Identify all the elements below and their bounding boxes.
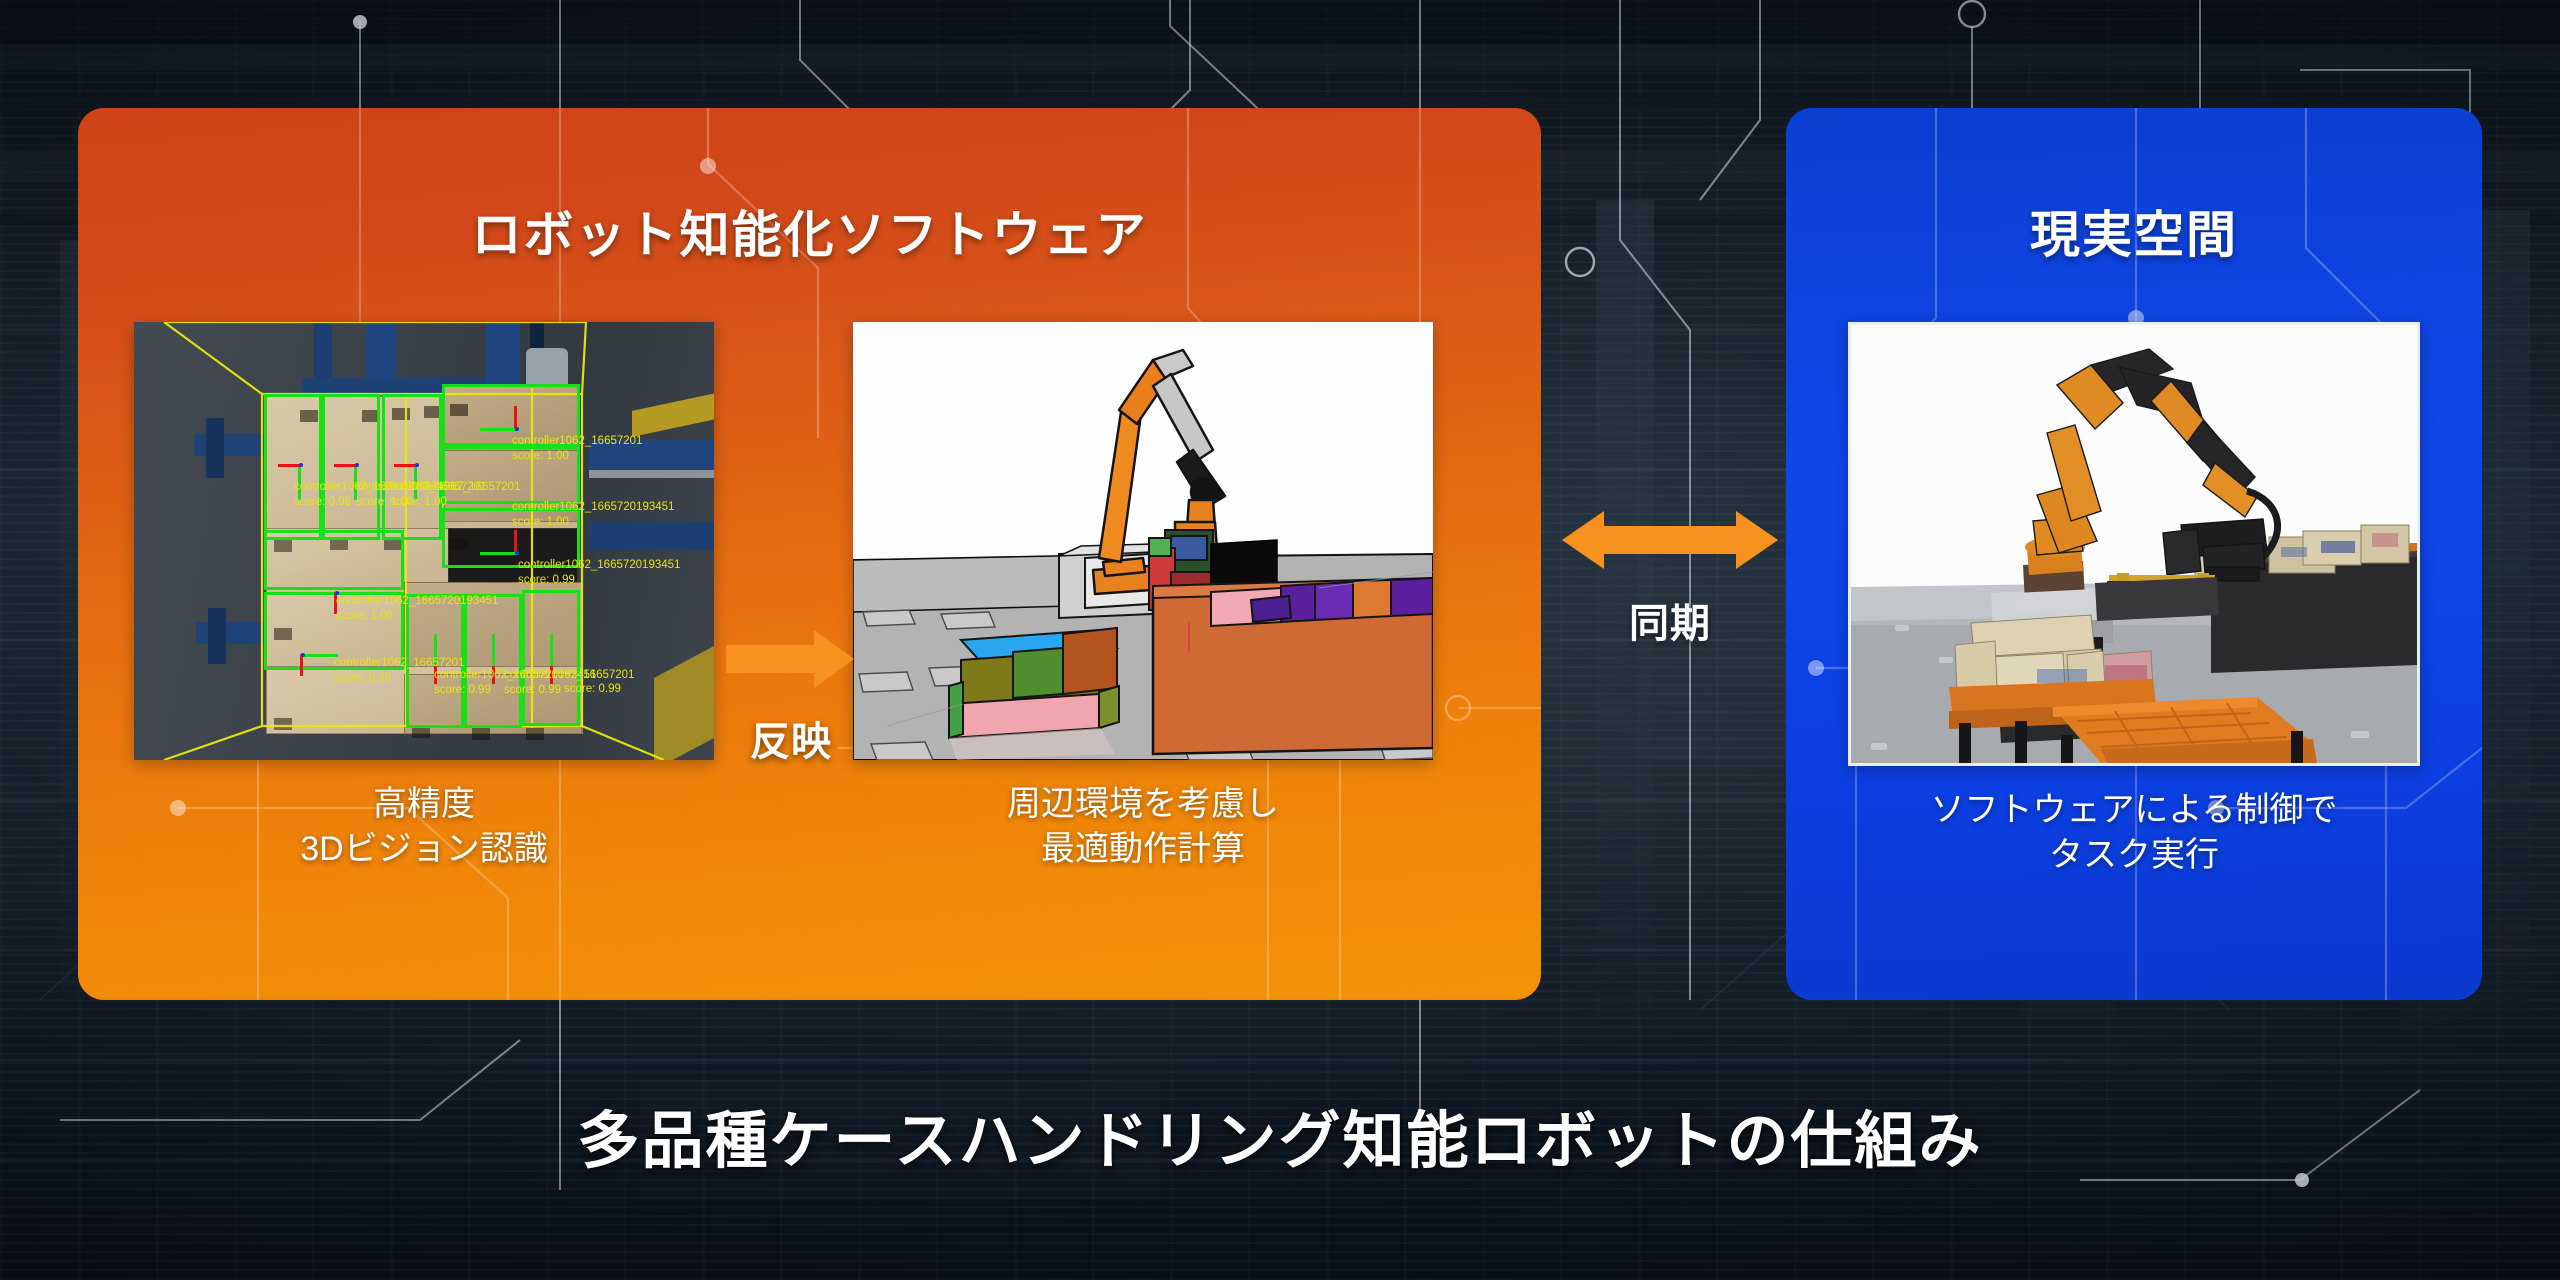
axis-origin-2: [355, 463, 359, 467]
axis-green-4: [480, 428, 518, 431]
detection-label-5-score: score: 1.00: [512, 515, 674, 530]
simulation-image: [853, 322, 1433, 760]
detection-label-7-score: score: 1.00: [336, 609, 498, 624]
detection-label-11-score: score: 0.99: [564, 682, 621, 697]
axis-origin-5: [515, 551, 519, 555]
axis-red-2: [334, 464, 356, 467]
arrow-reflect-label: 反映: [726, 709, 856, 767]
axis-red-1: [278, 464, 300, 467]
detection-label-6: controller1062_1665720193451 score: 0.99: [518, 558, 680, 588]
real-caption-line1: ソフトウェアによる制御で: [1848, 788, 2420, 833]
detection-label-5-name: controller1062_1665720193451: [512, 500, 674, 515]
arrow-sync-group: 同期: [1562, 508, 1778, 649]
simulation-caption-line2: 最適動作計算: [853, 827, 1433, 872]
bbox-1: [264, 394, 322, 540]
detection-label-6-name: controller1062_1665720193451: [518, 558, 680, 573]
detection-label-5: controller1062_1665720193451 score: 1.00: [512, 500, 674, 530]
axis-green-9: [492, 634, 495, 668]
detection-label-4-score: score: 1.00: [390, 495, 520, 510]
arrow-bidirectional-icon: [1562, 508, 1778, 572]
slide-bottom-title: 多品種ケースハンドリング知能ロボットの仕組み: [0, 1090, 2560, 1180]
figure-real-robot: ソフトウェアによる制御で タスク実行: [1848, 322, 2420, 878]
figure-simulation: 周辺環境を考慮し 最適動作計算: [853, 322, 1433, 872]
figure-3d-vision: controller1062_16657201 score: 1.00 cont…: [134, 322, 714, 872]
vision-caption-line1: 高精度: [134, 782, 714, 827]
axis-red-5: [514, 530, 517, 552]
axis-green-5: [480, 552, 518, 555]
figure-3d-vision-caption: 高精度 3Dビジョン認識: [134, 782, 714, 872]
vision-scene: controller1062_16657201 score: 1.00 cont…: [134, 322, 714, 760]
axis-origin-4: [515, 427, 519, 431]
simulation-caption-line1: 周辺環境を考慮し: [853, 782, 1433, 827]
figure-real-robot-caption: ソフトウェアによる制御で タスク実行: [1848, 788, 2420, 878]
real-robot-image: [1848, 322, 2420, 766]
real-robot-scene: [1851, 325, 2417, 763]
detection-label-4: controller1062_16657201 score: 1.00: [390, 480, 520, 510]
bbox-3: [382, 394, 442, 540]
panel-real-space: 現実空間: [1786, 108, 2482, 1000]
detection-label-10-name: controller1062_16657201: [504, 668, 634, 683]
simulation-3d-view: [853, 322, 1433, 760]
arrow-sync-label: 同期: [1562, 591, 1778, 649]
real-caption-line2: タスク実行: [1848, 833, 2420, 878]
detection-label-1: controller1062_16657201 score: 1.00: [512, 434, 642, 464]
vision-caption-line2: 3Dビジョン認識: [134, 827, 714, 872]
axis-origin-7: [301, 653, 305, 657]
axis-red-7: [300, 654, 303, 676]
panel-left-title: ロボット知能化ソフトウェア: [78, 195, 1541, 267]
detection-label-4-name: controller1062_16657201: [390, 480, 520, 495]
panel-robot-intelligence-software: ロボット知能化ソフトウェア: [78, 108, 1541, 1000]
detection-label-6-score: score: 0.99: [518, 573, 680, 588]
axis-green-10: [550, 634, 553, 668]
detection-label-1-name: controller1062_16657201: [512, 434, 642, 449]
panel-right-title: 現実空間: [1786, 195, 2482, 267]
slide-canvas: ロボット知能化ソフトウェア: [0, 0, 2560, 1280]
simulation-scene: [853, 322, 1433, 760]
figure-simulation-caption: 周辺環境を考慮し 最適動作計算: [853, 782, 1433, 872]
arrow-reflect-group: 反映: [726, 628, 856, 767]
axis-origin-3: [415, 463, 419, 467]
detection-label-11: score: 0.99: [564, 682, 621, 697]
detection-label-7: controller1062_1665720193451 score: 1.00: [336, 594, 498, 624]
detection-label-1-score: score: 1.00: [512, 449, 642, 464]
axis-green-7: [302, 654, 338, 657]
arrow-right-icon: [726, 628, 856, 690]
axis-origin-1: [299, 463, 303, 467]
axis-red-3: [394, 464, 416, 467]
detection-label-7-name: controller1062_1665720193451: [336, 594, 498, 609]
bbox-7: [264, 530, 404, 590]
bbox-2: [322, 394, 380, 540]
vision-image: controller1062_16657201 score: 1.00 cont…: [134, 322, 714, 760]
axis-red-4: [514, 406, 517, 428]
real-robot-photo: [1851, 325, 2417, 763]
